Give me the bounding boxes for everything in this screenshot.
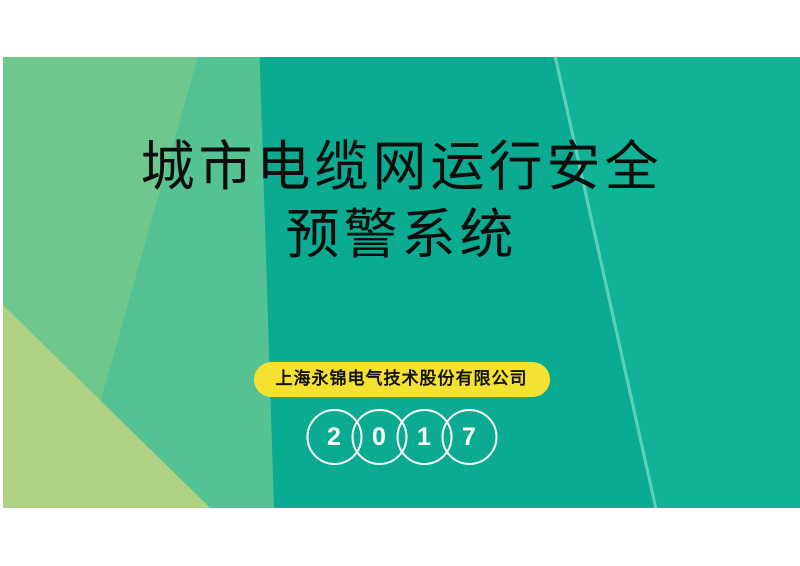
title-line-2: 预警系统 xyxy=(3,201,800,269)
company-name-badge: 上海永锦电气技术股份有限公司 xyxy=(254,362,550,397)
year-digit-1: 2 xyxy=(327,425,341,450)
company-name-label: 上海永锦电气技术股份有限公司 xyxy=(276,368,528,390)
year-badge-group: 2 0 1 7 xyxy=(306,408,497,466)
page-title: 城市电缆网运行安全 预警系统 xyxy=(3,133,800,269)
title-slide: 城市电缆网运行安全 预警系统 上海永锦电气技术股份有限公司 2 0 1 7 xyxy=(3,57,800,508)
year-digit-3: 1 xyxy=(417,425,431,450)
title-line-1: 城市电缆网运行安全 xyxy=(3,133,800,201)
year-digit-circle-4: 7 xyxy=(441,409,497,465)
slide-canvas: 城市电缆网运行安全 预警系统 上海永锦电气技术股份有限公司 2 0 1 7 xyxy=(0,0,800,566)
year-digit-4: 7 xyxy=(462,425,476,450)
year-digit-2: 0 xyxy=(372,425,386,450)
